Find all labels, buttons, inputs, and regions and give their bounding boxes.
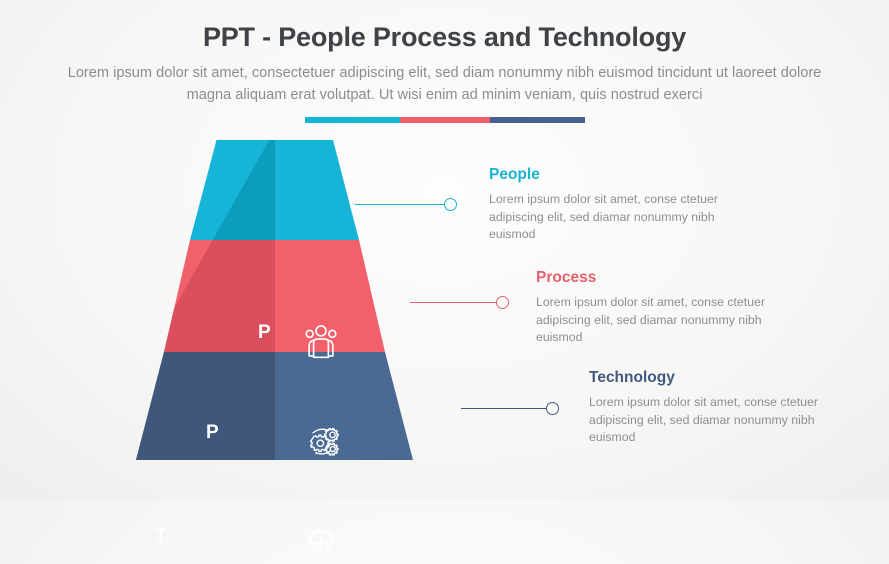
pyramid-letter-technology: T bbox=[155, 526, 167, 548]
connector-line-technology bbox=[461, 408, 548, 409]
divider-segment-technology bbox=[490, 117, 585, 123]
technology-network-icon bbox=[298, 518, 344, 564]
page-title: PPT - People Process and Technology bbox=[0, 22, 889, 53]
section-technology: Technology Lorem ipsum dolor sit amet, c… bbox=[589, 369, 839, 447]
accent-divider-bar bbox=[305, 117, 585, 123]
connector-line-process bbox=[410, 302, 498, 303]
connector-dot-people[interactable] bbox=[444, 198, 457, 211]
pyramid-shape bbox=[95, 130, 495, 470]
section-body-technology: Lorem ipsum dolor sit amet, conse ctetue… bbox=[589, 394, 839, 447]
pyramid-diagram: P P T bbox=[95, 130, 495, 470]
connector-dot-technology[interactable] bbox=[546, 402, 559, 415]
section-body-people: Lorem ipsum dolor sit amet, conse ctetue… bbox=[489, 191, 739, 244]
slide-canvas: PPT - People Process and Technology Lore… bbox=[0, 0, 889, 500]
section-heading-technology: Technology bbox=[589, 369, 839, 387]
section-people: People Lorem ipsum dolor sit amet, conse… bbox=[489, 166, 739, 244]
people-group-icon bbox=[298, 318, 344, 364]
section-process: Process Lorem ipsum dolor sit amet, cons… bbox=[536, 269, 786, 347]
divider-segment-process bbox=[400, 117, 490, 123]
page-subtitle: Lorem ipsum dolor sit amet, consectetuer… bbox=[60, 62, 830, 106]
divider-segment-people bbox=[305, 117, 400, 123]
section-body-process: Lorem ipsum dolor sit amet, conse ctetue… bbox=[536, 294, 786, 347]
section-heading-people: People bbox=[489, 166, 739, 184]
section-heading-process: Process bbox=[536, 269, 786, 287]
connector-line-people bbox=[355, 204, 445, 205]
connector-dot-process[interactable] bbox=[496, 296, 509, 309]
gears-icon bbox=[298, 418, 344, 464]
